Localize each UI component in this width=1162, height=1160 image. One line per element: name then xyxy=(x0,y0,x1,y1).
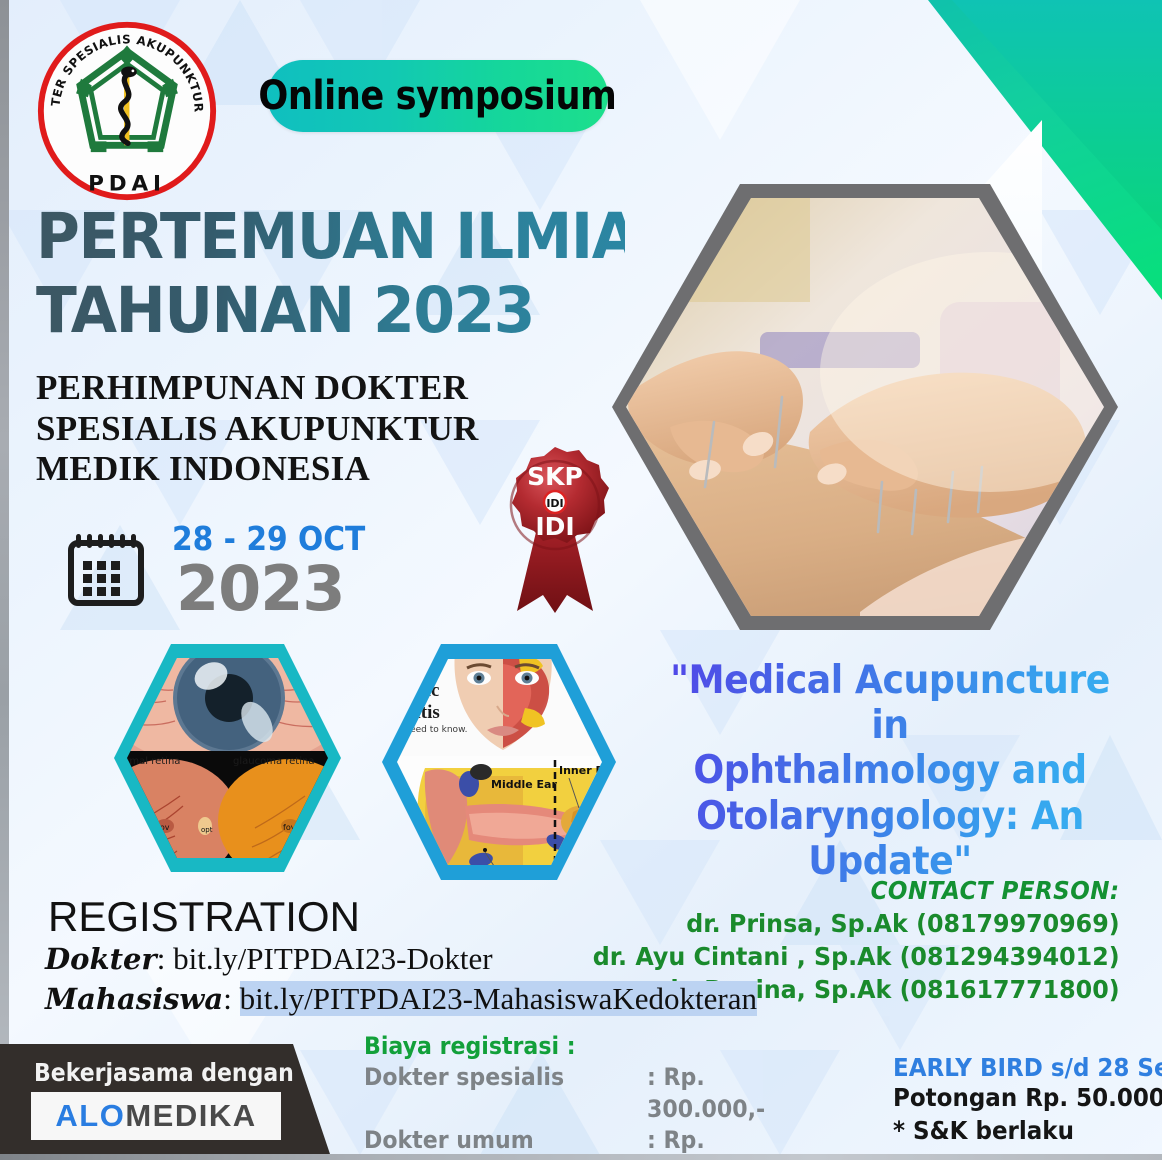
event-year: 2023 xyxy=(176,552,345,625)
registration-link-dokter[interactable]: bit.ly/PITPDAI23-Dokter xyxy=(173,941,492,976)
alomedika-logo-part1: ALO xyxy=(55,1098,125,1134)
contact-person-heading: CONTACT PERSON: xyxy=(610,876,1120,905)
seal-top-text: SKP xyxy=(527,462,583,491)
fee-row-2: Dokter umum : Rp. 200.000,- xyxy=(364,1125,824,1160)
ent-photo-hexagon: hronic nusitis you need to know. xyxy=(373,636,625,888)
eye-label-glaucoma-retina: glaucoma retina xyxy=(233,756,314,767)
alomedika-logo-part2: MEDIKA xyxy=(125,1098,256,1134)
online-symposium-label: Online symposium xyxy=(259,73,617,119)
registration-heading: REGISTRATION xyxy=(48,893,360,941)
svg-text:cup: cup xyxy=(323,802,336,810)
partner-prefix: Bekerjasama dengan xyxy=(34,1058,294,1087)
symposium-theme: "Medical Acupuncture in Ophthalmology an… xyxy=(658,658,1123,884)
early-bird-heading: EARLY BIRD s/d 28 Sept: xyxy=(893,1053,1162,1082)
title-line-2: TAHUNAN 2023 xyxy=(36,282,625,340)
early-bird-block: EARLY BIRD s/d 28 Sept: Potongan Rp. 50.… xyxy=(893,1053,1162,1147)
page-title: PERTEMUAN ILMIAH TAHUNAN 2023 xyxy=(36,208,656,340)
left-edge-strip xyxy=(0,0,9,1160)
registration-link-mahasiswa[interactable]: bit.ly/PITPDAI23-MahasiswaKedokteran xyxy=(240,981,757,1016)
pdai-logo: PERHIMPUNAN DOKTER SPESIALIS AKUPUNKTUR … xyxy=(34,16,220,206)
partner-banner: Bekerjasama dengan ALOMEDIKA xyxy=(0,1044,330,1154)
svg-text:PDAI: PDAI xyxy=(88,171,166,196)
fee-name-2: Dokter umum xyxy=(364,1125,625,1160)
poster-root: PERHIMPUNAN DOKTER SPESIALIS AKUPUNKTUR … xyxy=(0,0,1162,1160)
fees-block: Biaya registrasi : Dokter spesialis : Rp… xyxy=(364,1032,824,1160)
contact-person-1: dr. Prinsa, Sp.Ak (08179970969) xyxy=(593,907,1120,940)
alomedika-logo: ALOMEDIKA xyxy=(31,1092,281,1140)
registration-row-dokter: Dokter: bit.ly/PITPDAI23-Dokter xyxy=(45,941,493,977)
subtitle-line-3: MEDIK INDONESIA xyxy=(36,449,479,490)
organization-subtitle: PERHIMPUNAN DOKTER SPESIALIS AKUPUNKTUR … xyxy=(36,368,479,490)
registration-sep-dokter: : xyxy=(157,941,173,976)
subtitle-line-2: SPESIALIS AKUPUNKTUR xyxy=(36,409,479,450)
contact-person-2: dr. Ayu Cintani , Sp.Ak (081294394012) xyxy=(593,940,1120,973)
eye-photo-hexagon: normal retina glaucoma retina fov fov op… xyxy=(105,636,350,881)
fees-heading: Biaya registrasi : xyxy=(364,1032,787,1060)
registration-label-dokter: Dokter xyxy=(45,942,157,976)
early-bird-terms: * S&K berlaku xyxy=(893,1115,1162,1148)
registration-row-mahasiswa: Mahasiswa: bit.ly/PITPDAI23-MahasiswaKed… xyxy=(45,981,757,1017)
online-symposium-badge: Online symposium xyxy=(267,60,608,132)
fee-name-1: Dokter spesialis xyxy=(364,1062,625,1125)
ent-label-middle-ear: Middle Ear xyxy=(491,778,557,791)
seal-bottom-text: IDI xyxy=(535,512,574,541)
registration-sep-mahasiswa: : xyxy=(223,981,239,1016)
early-bird-discount: Potongan Rp. 50.000,- xyxy=(893,1082,1162,1115)
fee-row-1: Dokter spesialis : Rp. 300.000,- xyxy=(364,1062,824,1125)
calendar-icon xyxy=(68,528,144,611)
fee-price-2: : Rp. 200.000,- xyxy=(647,1125,810,1160)
skp-idi-seal: SKP IDI IDI xyxy=(495,443,615,623)
theme-line-2: Ophthalmology and xyxy=(658,748,1123,793)
svg-text:IDI: IDI xyxy=(546,497,563,510)
svg-text:opt: opt xyxy=(201,826,213,834)
subtitle-line-1: PERHIMPUNAN DOKTER xyxy=(36,368,479,409)
theme-line-3: Otolaryngology: An Update" xyxy=(658,794,1123,884)
theme-line-1: "Medical Acupuncture in xyxy=(658,658,1123,748)
acupuncture-photo-hexagon xyxy=(610,182,1120,632)
registration-label-mahasiswa: Mahasiswa xyxy=(45,982,223,1016)
title-line-1: PERTEMUAN ILMIAH xyxy=(36,208,625,266)
fee-price-1: : Rp. 300.000,- xyxy=(647,1062,810,1125)
